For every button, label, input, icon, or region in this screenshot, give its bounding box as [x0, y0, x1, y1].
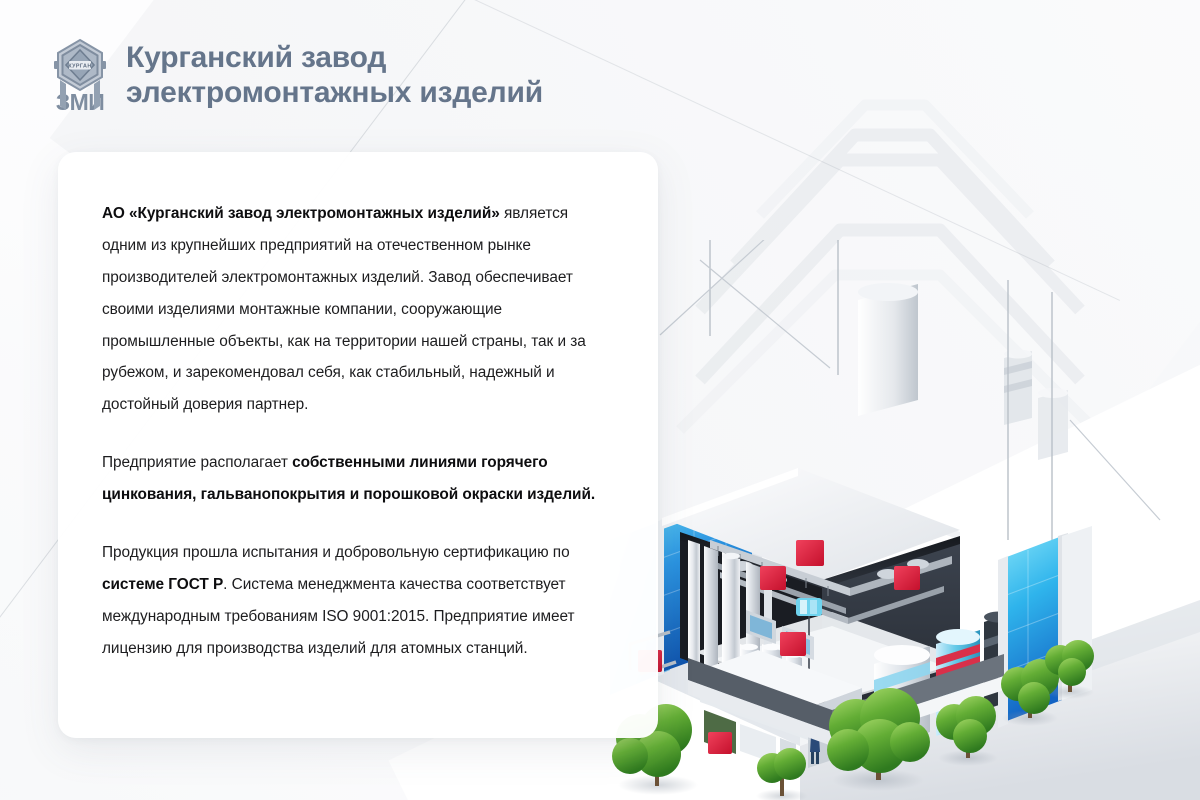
marker-tag-6 [708, 732, 732, 754]
paragraph-2: Предприятие располагает собственными лин… [102, 447, 614, 511]
brand-header: КУРГАН ЗМИ Курганский завод электромонта [52, 36, 543, 116]
marker-tag-1 [796, 540, 824, 566]
logo-inner-text: КУРГАН [68, 64, 91, 70]
slide-root: КУРГАН ЗМИ Курганский завод электромонта [0, 0, 1200, 800]
text-run-bold: АО «Курганский завод электромонтажных из… [102, 205, 504, 222]
page-title: Курганский завод электромонтажных издели… [126, 36, 543, 110]
paragraph-1: АО «Курганский завод электромонтажных из… [102, 198, 614, 421]
zmi-hexagon-emblem-icon: КУРГАН ЗМИ [52, 36, 108, 116]
bg-chimney-large [858, 283, 918, 416]
info-card: АО «Курганский завод электромонтажных из… [58, 152, 658, 738]
marker-tag-3 [894, 566, 920, 590]
tree-2 [827, 688, 930, 791]
factory-illustration [600, 240, 1200, 800]
bg-silos [1004, 350, 1068, 461]
tree-6 [756, 748, 808, 800]
company-description: АО «Курганский завод электромонтажных из… [102, 198, 614, 665]
marker-tag-2 [760, 566, 786, 590]
paragraph-3: Продукция прошла испытания и добровольну… [102, 537, 614, 665]
text-run: Продукция прошла испытания и добровольну… [102, 544, 570, 561]
text-run-bold: системе ГОСТ Р [102, 576, 223, 593]
marker-tag-4 [780, 632, 806, 656]
text-run: является одним из крупнейших предприятий… [102, 205, 586, 413]
tree-3 [936, 696, 998, 766]
text-run: Предприятие располагает [102, 454, 292, 471]
